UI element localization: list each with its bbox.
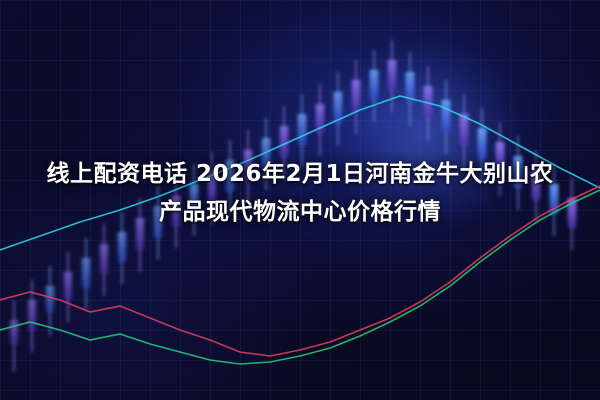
candle [64,252,73,322]
candle [28,280,37,352]
candle [82,238,91,310]
poster-canvas: 线上配资电话 2026年2月1日河南金牛大别山农 产品现代物流中心价格行情 [0,0,600,400]
candle [442,80,451,154]
candle [46,266,55,336]
candle [388,40,397,112]
title-line-2: 产品现代物流中心价格行情 [10,193,590,231]
title-line-1: 线上配资电话 2026年2月1日河南金牛大别山农 [10,155,590,193]
candle [100,224,109,296]
candle [10,300,19,372]
candle [406,52,415,126]
candle [370,50,379,122]
candle [316,84,325,156]
candle [334,72,343,146]
page-title: 线上配资电话 2026年2月1日河南金牛大别山农 产品现代物流中心价格行情 [0,155,600,231]
candle [352,60,361,134]
